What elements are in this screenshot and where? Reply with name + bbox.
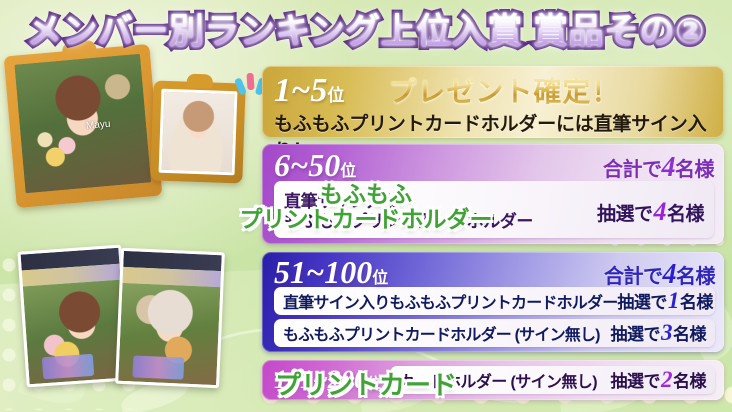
- card-photo-area: [118, 283, 220, 385]
- prize-row: 直筆サイン入りもふもふプリントカードホルダー 抽選で1名様: [274, 287, 715, 315]
- prize-tier-1-5: 1~5位 プレゼント確定！ もふもふプリントカードホルダーには直筆サイン入り！: [262, 66, 724, 138]
- sparkle-icon: [246, 73, 254, 90]
- page-title: メンバー別ランキング上位入賞 賞品その②: [0, 2, 732, 54]
- idol-photo-flowers: Mayu: [14, 54, 151, 193]
- product-label-card-holder: もふもふ プリントカードホルダー: [0, 182, 732, 232]
- tier-header: 51~100位 合計で4名様: [274, 254, 715, 287]
- prize-winner-count: 抽選で1名様: [617, 288, 713, 314]
- product-photo-card-holder-small: [150, 80, 245, 183]
- product-photo-print-card-1: [17, 245, 130, 388]
- prize-tier-51-100: 51~100位 合計で4名様 直筆サイン入りもふもふプリントカードホルダー 抽選…: [262, 252, 724, 352]
- tier-headline: プレゼント確定！: [388, 70, 620, 110]
- tier-header: 6~50位 合計で4名様: [274, 147, 714, 181]
- tier-header: 1~5位 プレゼント確定！: [274, 70, 712, 110]
- idol-photo-portrait: [159, 89, 238, 176]
- product-label-print-card: プリントカード: [0, 371, 732, 399]
- page-title-text: メンバー別ランキング上位入賞 賞品その②: [27, 3, 705, 54]
- autograph-signature: Mayu: [86, 117, 146, 174]
- rank-range-label: 1~5位: [274, 72, 344, 110]
- product-label-line2: プリントカードホルダー: [0, 207, 732, 232]
- promo-graphic: Mayu もふもふ プリントカードホルダー プリントカード メンバー別ランキング…: [0, 0, 732, 412]
- holder-tab: [187, 74, 213, 89]
- rank-range-label: 51~100位: [274, 254, 388, 291]
- tier-total-winners: 合計で4名様: [603, 152, 714, 184]
- product-label-line1: もふもふ: [0, 182, 732, 207]
- prize-name: 直筆サイン入りもふもふプリントカードホルダー: [283, 289, 617, 313]
- card-photo-area: [23, 280, 128, 385]
- prize-name: もふもふプリントカードホルダー (サイン無し): [283, 321, 600, 345]
- rank-range-label: 6~50位: [274, 147, 356, 184]
- prize-winner-count: 抽選で3名様: [611, 320, 707, 346]
- prize-row: もふもふプリントカードホルダー (サイン無し) 抽選で3名様: [274, 319, 715, 347]
- product-photo-print-card-2: [115, 248, 225, 388]
- tier-total-winners: 合計で4名様: [604, 259, 715, 291]
